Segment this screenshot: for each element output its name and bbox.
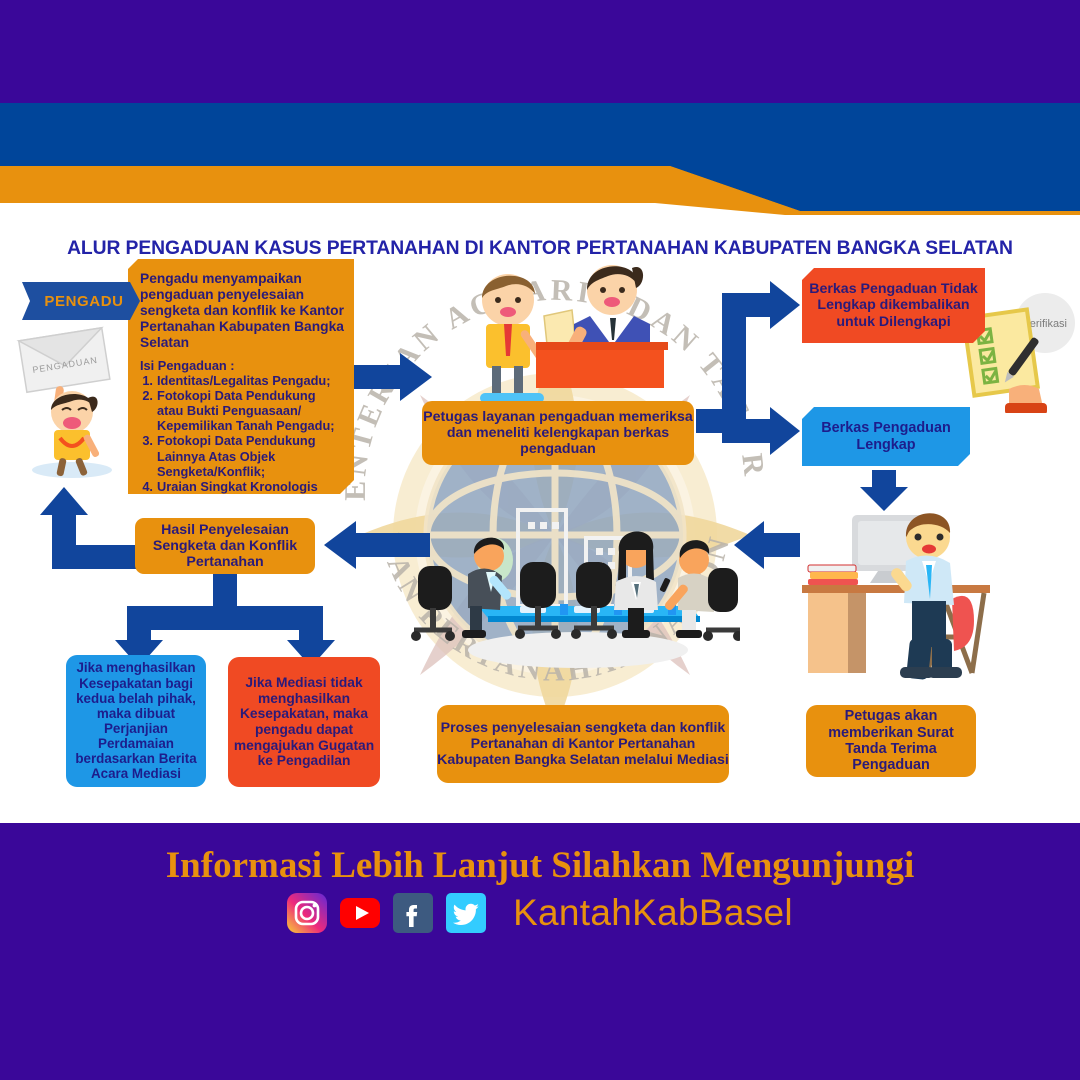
step-box-complete-file: Berkas Pengaduan Lengkap <box>802 407 970 466</box>
step-box-complaint-submission: Pengadu menyampaikan pengaduan penyelesa… <box>128 259 354 494</box>
arrow-left-right-section <box>734 521 800 569</box>
step-box-receipt-letter: Petugas akan memberikan Surat Tanda Teri… <box>806 705 976 777</box>
header-white-notch <box>0 103 1080 215</box>
list-item: 3. Fotokopi Data Pendukung Lainnya Atas … <box>140 433 344 478</box>
list-item-number: 1. <box>140 373 157 388</box>
illustration-mediation-meeting <box>410 490 740 690</box>
twitter-icon[interactable] <box>446 893 486 933</box>
social-handle: KantahKabBasel <box>513 892 793 934</box>
step-box-no-agreement: Jika Mediasi tidak menghasilkan Kesepaka… <box>228 657 380 787</box>
illustration-complainant: PENGADUAN <box>14 320 130 480</box>
step-box-resolution-result: Hasil Penyelesaian Sengketa dan Konflik … <box>135 518 315 574</box>
split-bar <box>127 606 323 630</box>
header-band-purple <box>0 0 1080 103</box>
list-item: 2. Fotokopi Data Pendukung atau Bukti Pe… <box>140 388 344 433</box>
step-box-officer-review: Petugas layanan pengaduan memeriksa dan … <box>422 401 694 465</box>
youtube-icon[interactable] <box>340 893 380 933</box>
step-box-agreement-reached: Jika menghasilkan Kesepakatan bagi kedua… <box>66 655 206 787</box>
split-stem <box>213 574 237 606</box>
illustration-office-worker <box>800 495 1035 680</box>
step-box-incomplete-file: Berkas Pengaduan Tidak Lengkap dikembali… <box>802 268 985 343</box>
list-item-text: Fotokopi Data Pendukung Lainnya Atas Obj… <box>157 433 344 478</box>
list-item-number: 3. <box>140 433 157 478</box>
page-footer: Informasi Lebih Lanjut Silahkan Mengunju… <box>0 823 1080 1080</box>
instagram-icon[interactable] <box>287 893 327 933</box>
diagram-canvas: KEMENTERIAN AGRARIA DAN TATA RUANG BADAN… <box>0 215 1080 823</box>
illustration-service-counter <box>440 250 680 406</box>
box1-isi-heading: Isi Pengaduan : <box>140 358 344 373</box>
box1-lead: Pengadu menyampaikan pengaduan penyelesa… <box>140 271 344 351</box>
footer-title: Informasi Lebih Lanjut Silahkan Mengunju… <box>0 844 1080 887</box>
list-item: 1. Identitas/Legalitas Pengadu; <box>140 373 344 388</box>
list-item-text: Fotokopi Data Pendukung atau Bukti Pengu… <box>157 388 344 433</box>
facebook-icon[interactable] <box>393 893 433 933</box>
step-box-mediation-process: Proses penyelesaian sengketa dan konflik… <box>437 705 729 783</box>
page-header <box>0 0 1080 215</box>
list-item-text: Identitas/Legalitas Pengadu; <box>157 373 344 388</box>
pengadu-flag-label: PENGADU <box>22 282 140 320</box>
pengadu-flag: PENGADU <box>22 282 140 320</box>
list-item-number: 2. <box>140 388 157 433</box>
box1-list: 1. Identitas/Legalitas Pengadu; 2. Fotok… <box>140 373 344 509</box>
arrow-right-1 <box>354 353 432 401</box>
social-links-row: KantahKabBasel <box>0 889 1080 937</box>
